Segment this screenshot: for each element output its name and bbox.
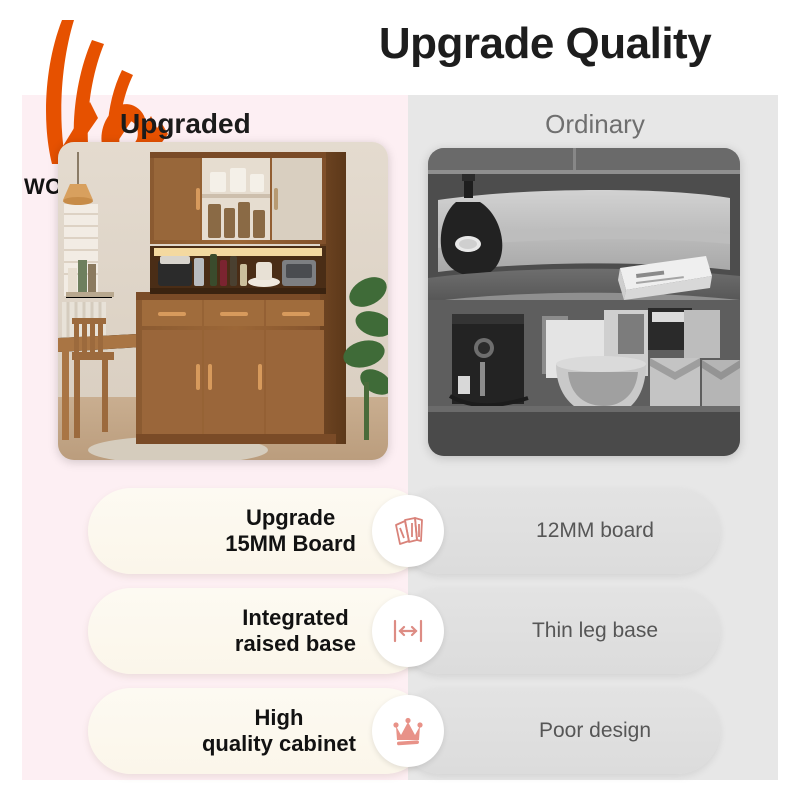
row-ordinary-pill[interactable]: Poor design (398, 688, 720, 774)
page-title: Upgrade Quality (330, 22, 760, 66)
row-ordinary-pill[interactable]: 12MM board (398, 488, 720, 574)
column-label-ordinary: Ordinary (440, 104, 750, 144)
photo-upgraded-cabinet (58, 142, 388, 460)
row-upgraded-label: High quality cabinet (202, 688, 356, 774)
photo-ordinary-shelf (428, 148, 740, 456)
comparison-row: Integrated raised base Thin leg base (0, 588, 800, 680)
comparison-row: Upgrade 15MM Board 12MM board (0, 488, 800, 580)
row-upgraded-label: Integrated raised base (235, 588, 356, 674)
boards-stack-icon (372, 495, 444, 567)
upgraded-cabinet-illustration (58, 142, 388, 460)
infographic-canvas: Upgrade Quality WOWDESIGN Upgraded Ordin… (0, 0, 800, 800)
column-label-upgraded: Upgraded (120, 104, 370, 144)
ordinary-shelf-illustration (428, 148, 740, 456)
row-ordinary-pill[interactable]: Thin leg base (398, 588, 720, 674)
row-ordinary-label: 12MM board (490, 488, 700, 574)
row-ordinary-label: Poor design (490, 688, 700, 774)
row-ordinary-label: Thin leg base (490, 588, 700, 674)
comparison-row: High quality cabinet Poor design (0, 688, 800, 780)
width-measure-icon (372, 595, 444, 667)
crown-icon (372, 695, 444, 767)
row-upgraded-label: Upgrade 15MM Board (225, 488, 356, 574)
